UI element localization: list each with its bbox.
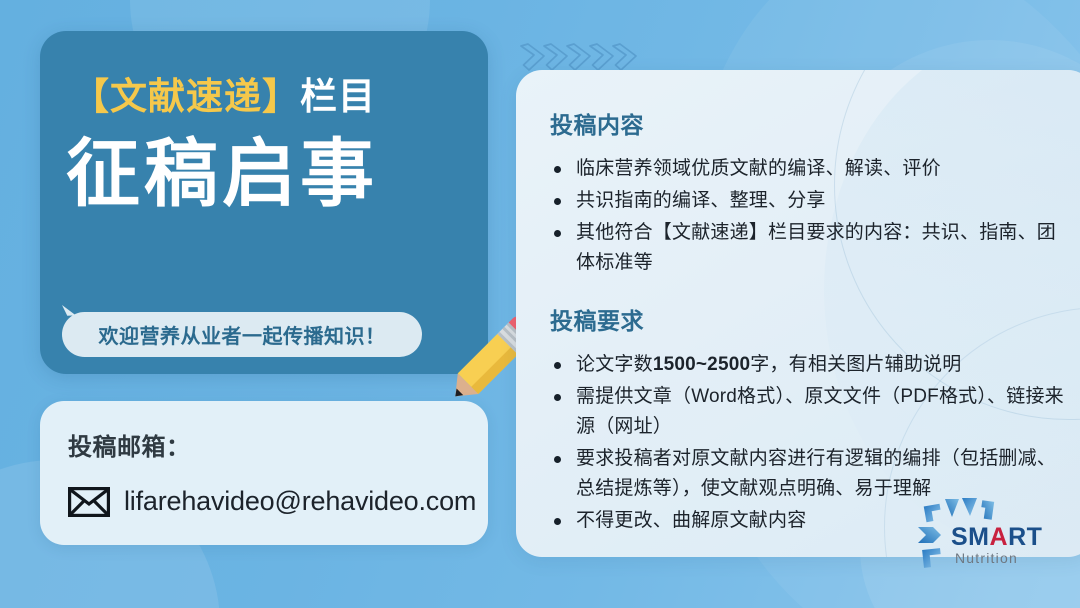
email-card: 投稿邮箱： lifarehavideo@rehavideo.com	[40, 401, 488, 545]
hero-title-highlight: 【文献速递】	[72, 76, 300, 117]
hero-card: 【文献速递】栏目 征稿启事 欢迎营养从业者一起传播知识！	[40, 31, 488, 374]
list-item: 需提供文章（Word格式）、原文文件（PDF格式）、链接来源（网址）	[550, 382, 1068, 442]
envelope-icon	[68, 487, 110, 517]
left-column: 【文献速递】栏目 征稿启事 欢迎营养从业者一起传播知识！	[40, 31, 488, 374]
logo-name-part1: SM	[951, 523, 990, 551]
req-bold: 1500~2500	[653, 354, 750, 375]
list-item: 要求投稿者对原文献内容进行有逻辑的编排（包括删减、总结提炼等），使文献观点明确、…	[550, 444, 1068, 504]
section-title-requirements: 投稿要求	[550, 302, 1068, 336]
section-title-content: 投稿内容	[550, 106, 1068, 140]
list-item: 其他符合【文献速递】栏目要求的内容：共识、指南、团体标准等	[550, 218, 1068, 278]
logo-name-accent: A	[990, 523, 1009, 551]
right-content-panel: 投稿内容 临床营养领域优质文献的编译、解读、评价 共识指南的编译、整理、分享 其…	[516, 70, 1080, 557]
hero-title-rest: 栏目	[300, 76, 376, 117]
email-address[interactable]: lifarehavideo@rehavideo.com	[124, 486, 476, 517]
req-pre: 论文字数	[576, 354, 653, 375]
hero-bubble-text: 欢迎营养从业者一起传播知识！	[99, 320, 386, 349]
smart-nutrition-logo: SMART Nutrition	[915, 497, 1043, 571]
speech-bubble-tail-icon	[62, 305, 86, 323]
content-bullet-list: 临床营养领域优质文献的编译、解读、评价 共识指南的编译、整理、分享 其他符合【文…	[550, 154, 1068, 278]
logo-subtitle: Nutrition	[955, 550, 1018, 566]
logo-name-part2: RT	[1008, 523, 1042, 551]
email-row: lifarehavideo@rehavideo.com	[68, 486, 488, 517]
list-item: 临床营养领域优质文献的编译、解读、评价	[550, 154, 1068, 184]
list-item: 论文字数1500~2500字，有相关图片辅助说明	[550, 350, 1068, 380]
email-label: 投稿邮箱：	[68, 427, 488, 462]
req-post: 字，有相关图片辅助说明	[750, 354, 961, 375]
list-item: 共识指南的编译、整理、分享	[550, 186, 1068, 216]
poster-canvas: 【文献速递】栏目 征稿启事 欢迎营养从业者一起传播知识！	[0, 0, 1080, 608]
hero-speech-bubble: 欢迎营养从业者一起传播知识！	[62, 312, 422, 357]
hero-title-line: 【文献速递】栏目	[40, 78, 488, 115]
panel-body: 投稿内容 临床营养领域优质文献的编译、解读、评价 共识指南的编译、整理、分享 其…	[516, 70, 1080, 536]
svg-text:SMART: SMART	[951, 523, 1042, 551]
hero-headline: 征稿启事	[40, 137, 488, 211]
hero-inner: 【文献速递】栏目 征稿启事	[40, 31, 488, 211]
